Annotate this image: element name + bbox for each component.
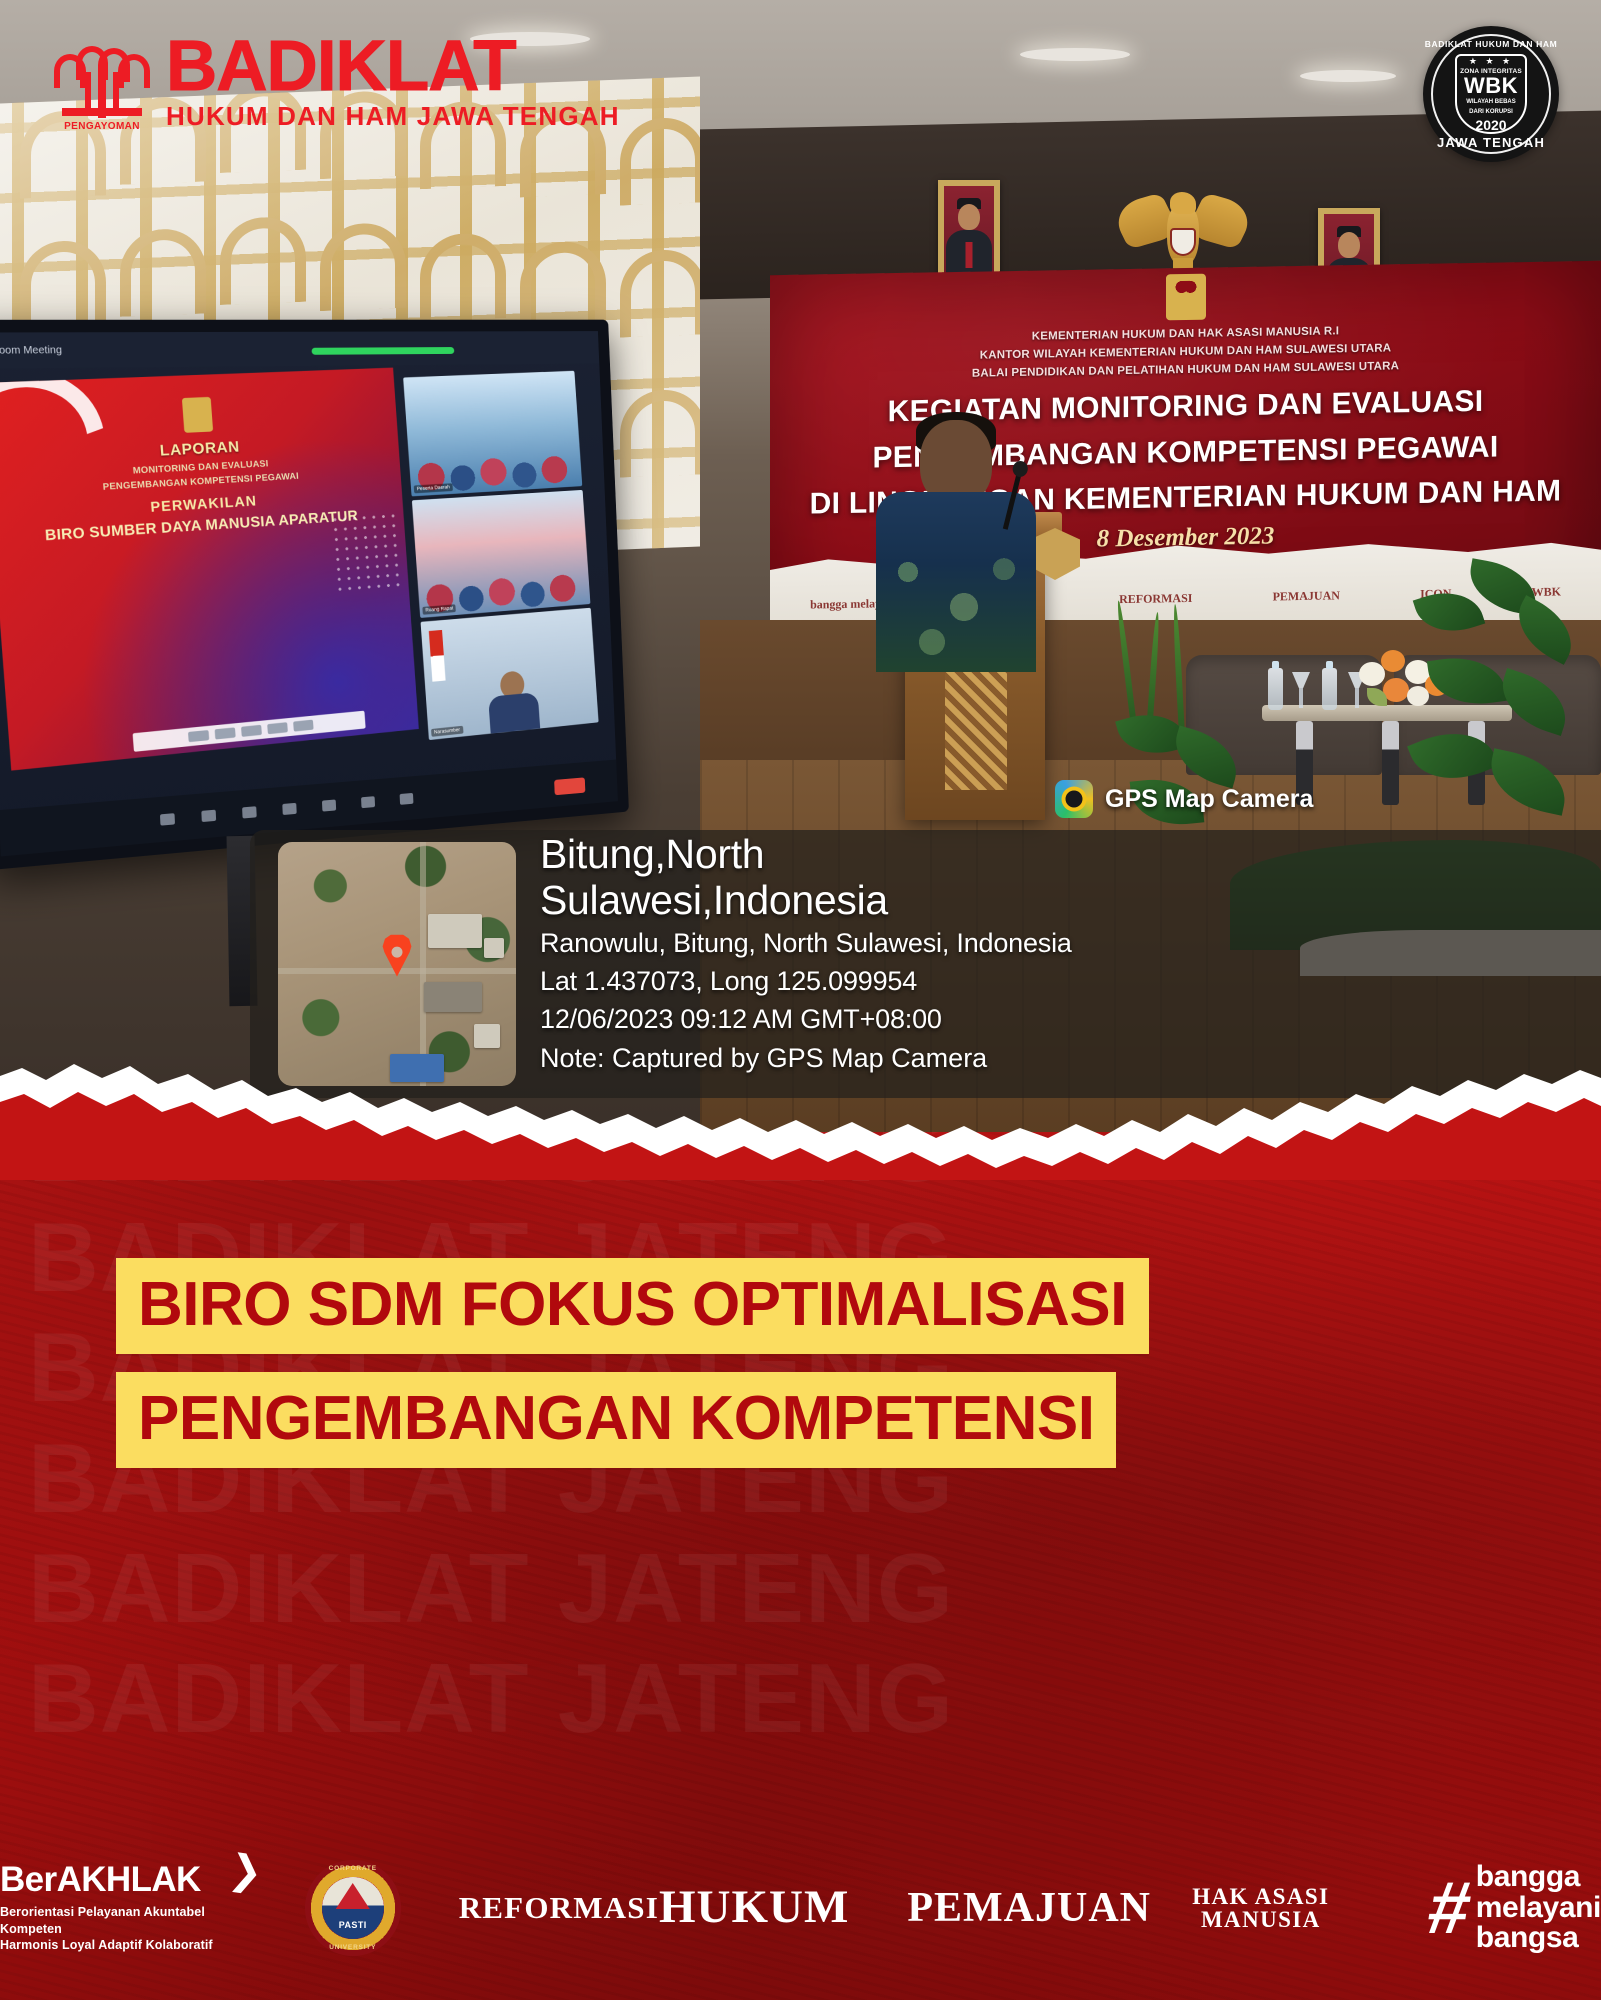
wbk-expansion-line-1: WILAYAH BEBAS bbox=[1466, 99, 1516, 107]
slide-ministry-logo-icon bbox=[182, 397, 213, 433]
bangga-melayani-bangsa-logo: # bangga melayani bangsa bbox=[1429, 1862, 1601, 1954]
wbk-ring-bottom-text: JAWA TENGAH bbox=[1423, 135, 1559, 150]
gps-note: Note: Captured by GPS Map Camera bbox=[540, 1039, 1560, 1077]
end-meeting-button[interactable] bbox=[554, 777, 585, 795]
monitor-screen: Zoom Meeting LAPORAN MONITORING DAN EVAL… bbox=[0, 331, 618, 856]
video-icon[interactable] bbox=[201, 809, 216, 821]
wbk-expansion-line-2: DARI KORUPSI bbox=[1469, 109, 1513, 117]
reactions-icon[interactable] bbox=[400, 792, 414, 804]
potted-plant-center bbox=[1106, 600, 1256, 860]
pasti-ring-bottom-text: UNIVERSITY bbox=[305, 1944, 401, 1951]
pemajuan-line-1: PEMAJUAN bbox=[907, 1887, 1151, 1930]
gps-timestamp: 12/06/2023 09:12 AM GMT+08:00 bbox=[540, 1000, 1560, 1038]
gps-map-camera-icon bbox=[1055, 780, 1093, 818]
headline-line-1: BIRO SDM FOKUS OPTIMALISASI bbox=[116, 1258, 1149, 1354]
slide-partner-logo-strip bbox=[133, 711, 366, 752]
wbk-integrity-badge: BADIKLAT HUKUM DAN HAM ★ ★ ★ ZONA INTEGR… bbox=[1423, 26, 1559, 162]
gps-map-camera-label: GPS Map Camera bbox=[1105, 785, 1313, 814]
bangga-lines: bangga melayani bangsa bbox=[1476, 1862, 1601, 1954]
participants-icon[interactable] bbox=[242, 806, 257, 818]
goblet-glass bbox=[1292, 672, 1310, 712]
gps-city-line-1: Bitung,North bbox=[540, 832, 1560, 878]
berakhlak-tagline-line-1: Berorientasi Pelayanan Akuntabel Kompete… bbox=[0, 1904, 247, 1938]
record-icon[interactable] bbox=[361, 796, 375, 808]
gps-info-overlay: Bitung,North Sulawesi,Indonesia Ranowulu… bbox=[250, 830, 1601, 1098]
pemajuan-ham-logo: PEMAJUAN HAK ASASI MANUSIA bbox=[907, 1885, 1370, 1932]
banner-title-line-1: KEGIATAN MONITORING DAN EVALUASI bbox=[770, 382, 1601, 432]
wbk-shield: ★ ★ ★ ZONA INTEGRITAS WBK WILAYAH BEBAS … bbox=[1455, 54, 1527, 134]
reformasi-hukum-logo: REFORMASI HUKUM bbox=[459, 1884, 850, 1932]
hashtag-icon: # bbox=[1424, 1881, 1468, 1934]
share-screen-icon[interactable] bbox=[322, 799, 336, 811]
gps-map-camera-badge: GPS Map Camera bbox=[1055, 780, 1313, 818]
brand-title: BADIKLAT bbox=[166, 34, 620, 99]
mute-icon[interactable] bbox=[160, 813, 175, 826]
watermark-row: BADIKLAT JATENG bbox=[0, 1653, 1601, 1743]
berakhlak-logo: BerAKHLAK Berorientasi Pelayanan Akuntab… bbox=[0, 1862, 247, 1955]
badiklat-brand-lockup: PENGAYOMAN BADIKLAT HUKUM DAN HAM JAWA T… bbox=[48, 28, 620, 136]
berakhlak-chevron-icon: ❯ bbox=[226, 1846, 266, 1896]
berakhlak-wordmark: BerAKHLAK bbox=[0, 1862, 247, 1897]
video-participant-column: Peserta Daerah Ruang Rapat Narasumber bbox=[403, 371, 598, 740]
slide-dot-pattern bbox=[330, 511, 403, 595]
table-leg bbox=[1382, 721, 1399, 805]
wbk-ring-top-text: BADIKLAT HUKUM DAN HAM bbox=[1423, 39, 1559, 49]
reformasi-line-2: HUKUM bbox=[659, 1884, 849, 1932]
water-bottle bbox=[1322, 668, 1337, 710]
pemajuan-line-2: HAK ASASI MANUSIA bbox=[1151, 1885, 1371, 1932]
berakhlak-prefix: Ber bbox=[0, 1860, 57, 1899]
banner-footer-logo: PEMAJUAN bbox=[1273, 588, 1340, 604]
photo-area: KEMENTERIAN HUKUM DAN HAK ASASI MANUSIA … bbox=[0, 0, 1601, 1140]
gps-text-block: Bitung,North Sulawesi,Indonesia Ranowulu… bbox=[540, 832, 1560, 1077]
wbk-stars: ★ ★ ★ bbox=[1469, 57, 1513, 66]
bangga-line-2: melayani bbox=[1476, 1893, 1601, 1924]
video-tile[interactable]: Peserta Daerah bbox=[403, 371, 582, 496]
participant-name: Narasumber bbox=[431, 726, 463, 737]
brand-text-block: BADIKLAT HUKUM DAN HAM JAWA TENGAH bbox=[166, 28, 620, 132]
pasti-wordmark: PASTI bbox=[339, 1920, 367, 1930]
banner-title-line-2: PENGEMBANGAN KOMPETENSI PEGAWAI bbox=[770, 428, 1601, 478]
pasti-ring-top-text: CORPORATE bbox=[305, 1865, 401, 1872]
wbk-year: 2020 bbox=[1475, 117, 1506, 133]
gps-address: Ranowulu, Bitung, North Sulawesi, Indone… bbox=[540, 924, 1560, 962]
footer-logo-row: BerAKHLAK Berorientasi Pelayanan Akuntab… bbox=[0, 1860, 1601, 1956]
headline-line-2: PENGEMBANGAN KOMPETENSI bbox=[116, 1372, 1116, 1468]
ceiling-light bbox=[1300, 70, 1396, 82]
president-portrait bbox=[938, 180, 1000, 280]
bangga-line-1: bangga bbox=[1476, 1862, 1601, 1893]
map-location-pin-icon bbox=[382, 935, 412, 977]
zoom-speaking-indicator bbox=[312, 347, 455, 355]
brand-subtitle: HUKUM DAN HAM JAWA TENGAH bbox=[166, 101, 620, 132]
indonesian-flag-icon bbox=[429, 630, 446, 682]
zoom-top-bar: Zoom Meeting bbox=[0, 331, 599, 368]
ceiling-light bbox=[1020, 48, 1130, 61]
display-monitor: Zoom Meeting LAPORAN MONITORING DAN EVAL… bbox=[0, 320, 629, 871]
berakhlak-tagline: Berorientasi Pelayanan Akuntabel Kompete… bbox=[0, 1904, 247, 1955]
berakhlak-tagline-line-2: Harmonis Loyal Adaptif Kolaboratif bbox=[0, 1937, 247, 1954]
gps-satellite-map-thumbnail[interactable] bbox=[278, 842, 516, 1086]
pasti-corporate-university-seal: CORPORATE PASTI UNIVERSITY bbox=[305, 1860, 401, 1956]
watermark-row: BADIKLAT JATENG bbox=[0, 1132, 1601, 1192]
reformasi-line-1: REFORMASI bbox=[459, 1892, 659, 1924]
video-tile[interactable]: Narasumber bbox=[421, 608, 599, 740]
chat-icon[interactable] bbox=[282, 802, 296, 814]
water-bottle bbox=[1268, 668, 1283, 710]
zoom-app-label: Zoom Meeting bbox=[0, 344, 62, 356]
pengayoman-banyan-tree-icon: PENGAYOMAN bbox=[48, 28, 156, 136]
poster-root: KEMENTERIAN HUKUM DAN HAK ASASI MANUSIA … bbox=[0, 0, 1601, 2000]
watermark-row: BADIKLAT JATENG bbox=[0, 1543, 1601, 1633]
video-tile[interactable]: Ruang Rapat bbox=[412, 490, 591, 619]
speaker-batik-shirt bbox=[876, 530, 1036, 670]
gps-coordinates: Lat 1.437073, Long 125.099954 bbox=[540, 962, 1560, 1000]
presentation-slide: LAPORAN MONITORING DAN EVALUASI PENGEMBA… bbox=[0, 368, 419, 771]
pengayoman-caption: PENGAYOMAN bbox=[64, 121, 140, 132]
wbk-acronym: WBK bbox=[1464, 75, 1518, 97]
berakhlak-emphasis: AKHLAK bbox=[57, 1860, 201, 1899]
potted-plant-right bbox=[1408, 560, 1598, 860]
bangga-line-3: bangsa bbox=[1476, 1923, 1601, 1954]
ministry-logo-icon bbox=[1166, 274, 1206, 321]
pasti-seal-inner-icon bbox=[322, 1877, 384, 1939]
gps-city-line-2: Sulawesi,Indonesia bbox=[540, 878, 1560, 924]
headline-block: BIRO SDM FOKUS OPTIMALISASI PENGEMBANGAN… bbox=[0, 1258, 1601, 1468]
